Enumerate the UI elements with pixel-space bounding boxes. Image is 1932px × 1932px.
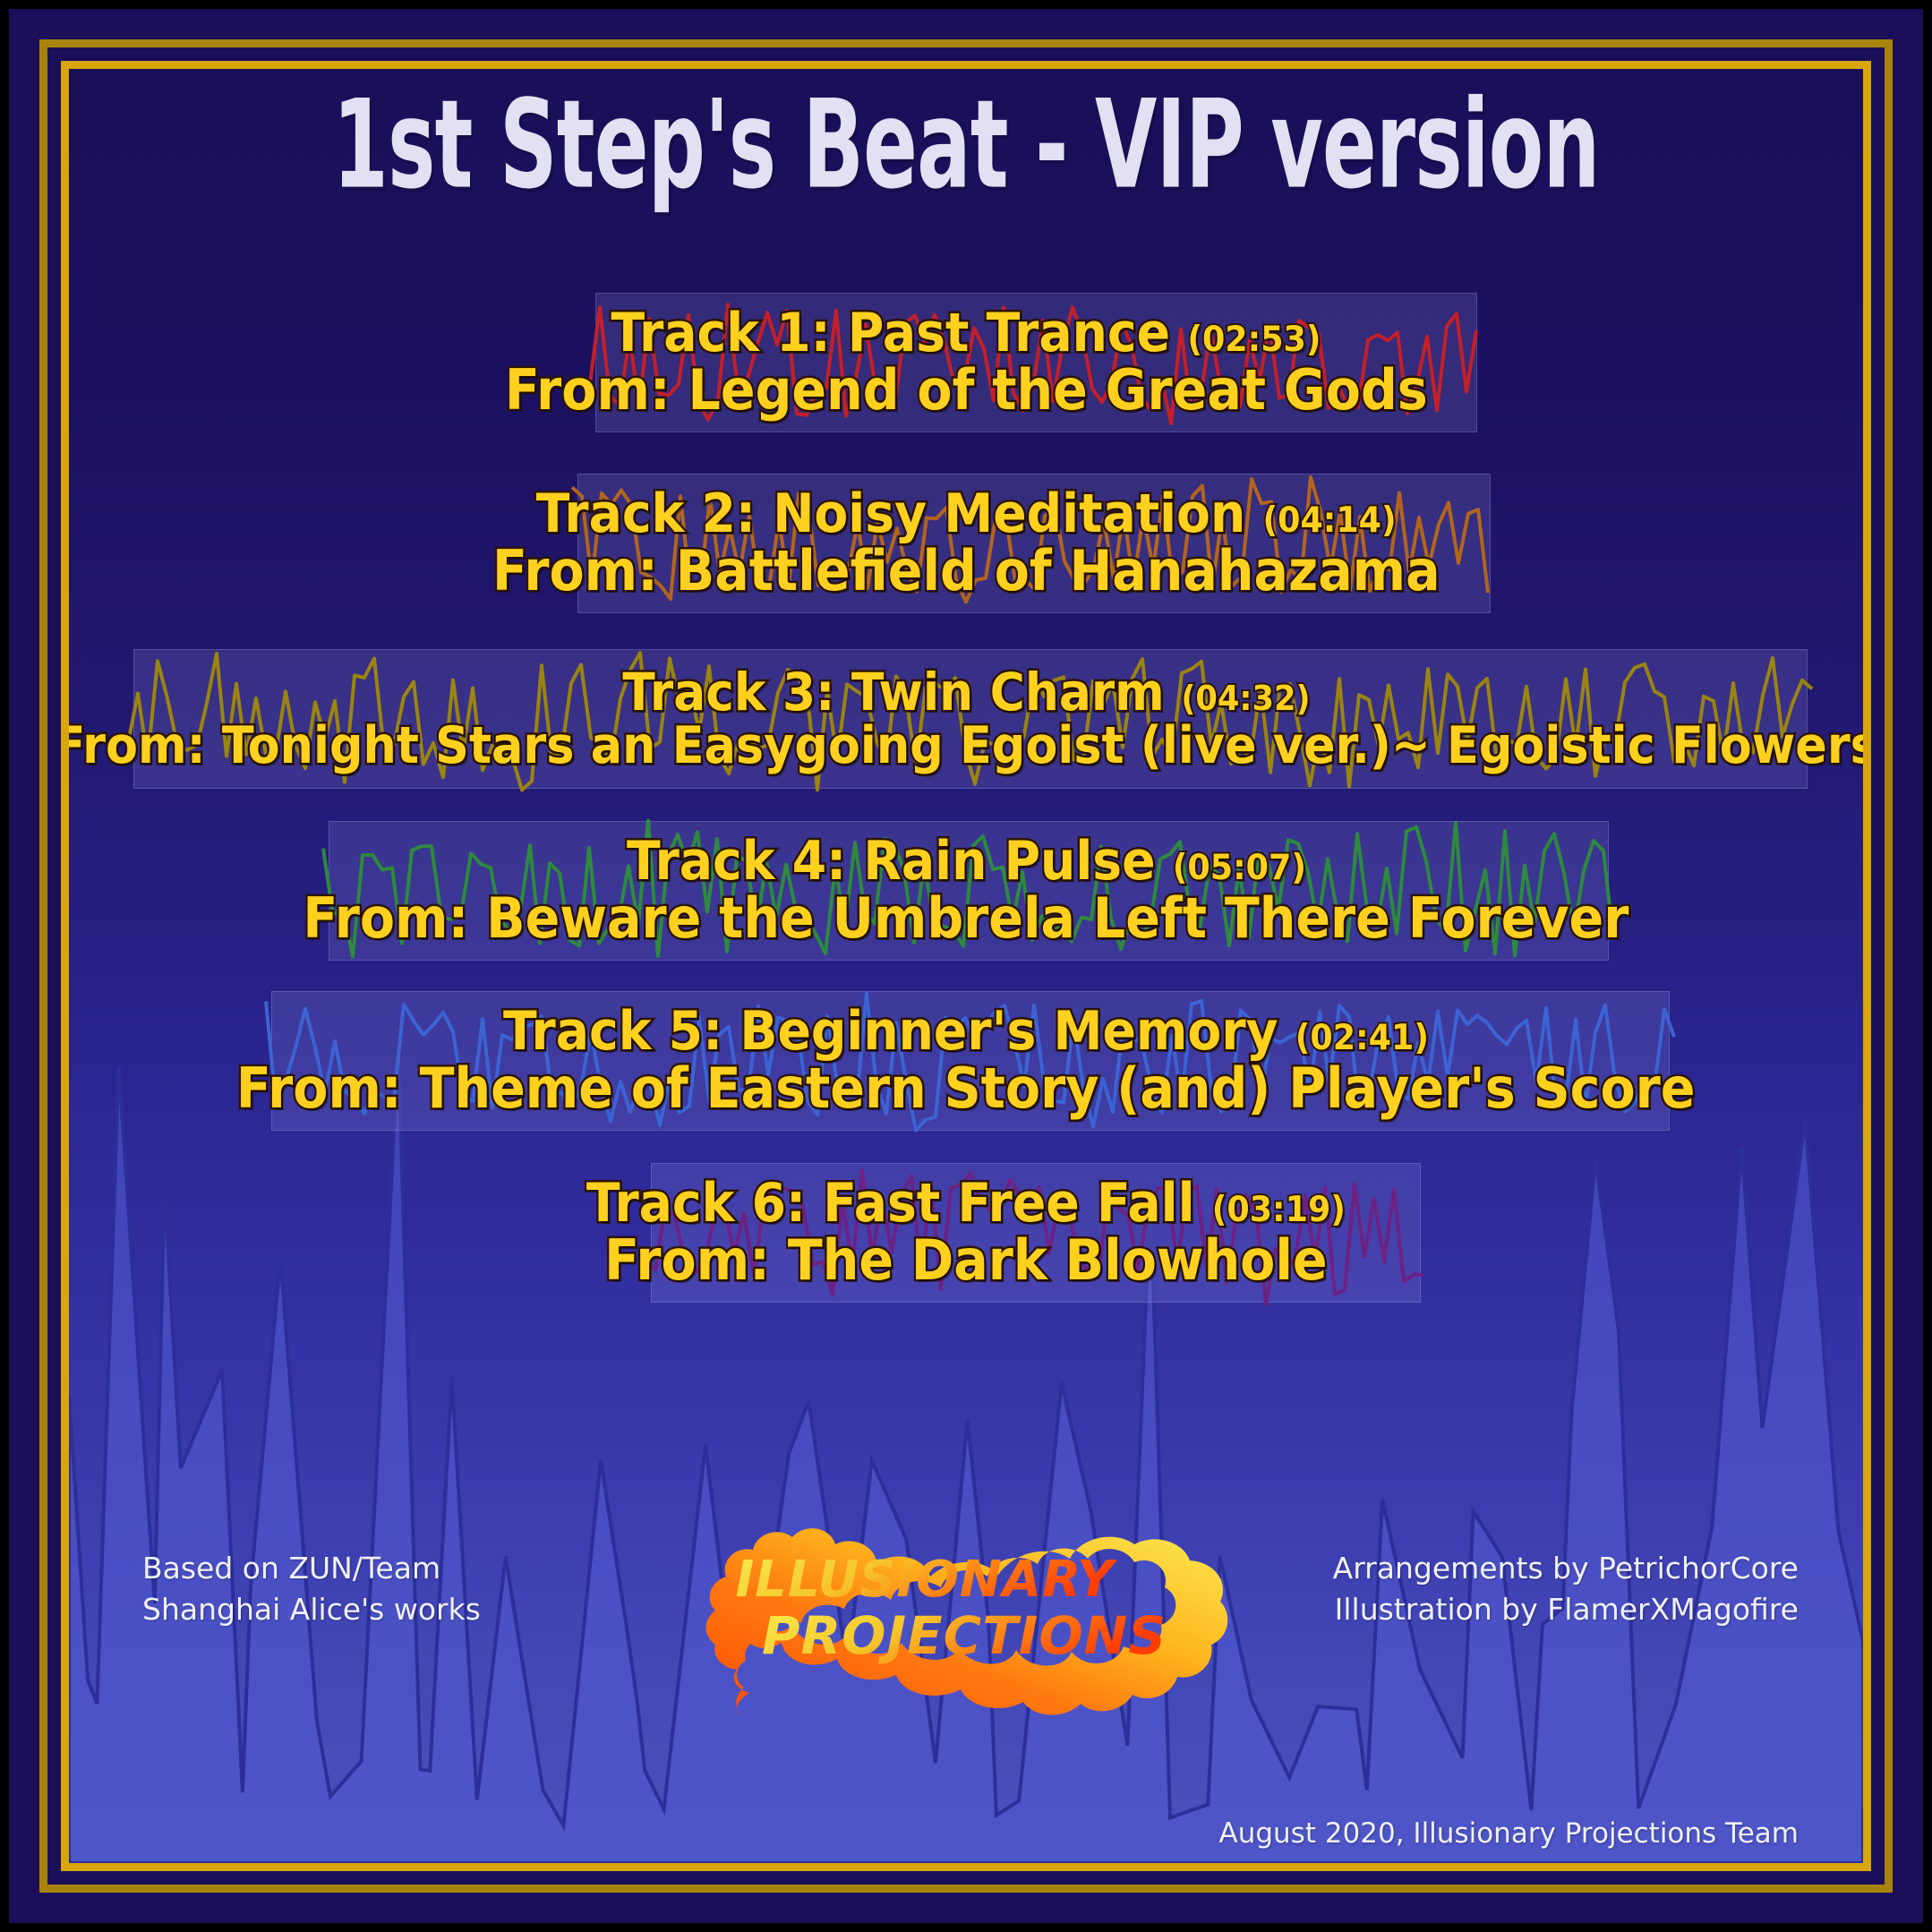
- track-waveform-3: [133, 649, 1808, 789]
- track-row-1[interactable]: Track 1: Past Trance (02:53)From: Legend…: [69, 293, 1863, 432]
- credit-staff: Arrangements by PetrichorCore Illustrati…: [1333, 1548, 1799, 1629]
- track-waveform-1: [595, 293, 1477, 432]
- track-waveform-2: [577, 474, 1491, 613]
- svg-text:ILLUSIONARY: ILLUSIONARY: [735, 1551, 1118, 1609]
- track-waveform-4: [329, 821, 1609, 961]
- track-waveform-5: [271, 991, 1670, 1131]
- track-row-6[interactable]: Track 6: Fast Free Fall (03:19)From: The…: [69, 1163, 1863, 1303]
- track-row-3[interactable]: Track 3: Twin Charm (04:32)From: Tonight…: [69, 649, 1863, 789]
- credit-release-date: August 2020, Illusionary Projections Tea…: [1218, 1815, 1799, 1853]
- track-row-4[interactable]: Track 4: Rain Pulse (05:07)From: Beware …: [69, 821, 1863, 961]
- album-title: 1st Step's Beat - VIP version: [248, 74, 1683, 217]
- track-row-5[interactable]: Track 5: Beginner's Memory (02:41)From: …: [69, 991, 1863, 1131]
- track-panel-1: [595, 293, 1477, 432]
- track-panel-6: [651, 1163, 1421, 1303]
- credit-illustration: Illustration by FlamerXMagofire: [1333, 1589, 1799, 1630]
- svg-text:PROJECTIONS: PROJECTIONS: [762, 1605, 1167, 1666]
- logo-smoke-icon: ILLUSIONARY PROJECTIONS: [696, 1500, 1233, 1723]
- artwork-canvas: 1st Step's Beat - VIP version Track 1: P…: [69, 69, 1863, 1863]
- credit-arrangements: Arrangements by PetrichorCore: [1333, 1548, 1799, 1589]
- track-panel-5: [271, 991, 1670, 1131]
- track-row-2[interactable]: Track 2: Noisy Meditation (04:14)From: B…: [69, 474, 1863, 613]
- credit-source: Based on ZUN/Team Shanghai Alice's works: [142, 1548, 481, 1629]
- credit-source-line-1: Based on ZUN/Team: [142, 1548, 481, 1589]
- track-waveform-6: [651, 1163, 1421, 1303]
- track-panel-2: [577, 474, 1491, 613]
- track-panel-3: [133, 649, 1808, 789]
- credit-source-line-2: Shanghai Alice's works: [142, 1589, 481, 1630]
- illusionary-projections-logo: ILLUSIONARY PROJECTIONS: [696, 1500, 1233, 1723]
- album-cover: 1st Step's Beat - VIP version Track 1: P…: [0, 0, 1932, 1932]
- track-panel-4: [329, 821, 1609, 961]
